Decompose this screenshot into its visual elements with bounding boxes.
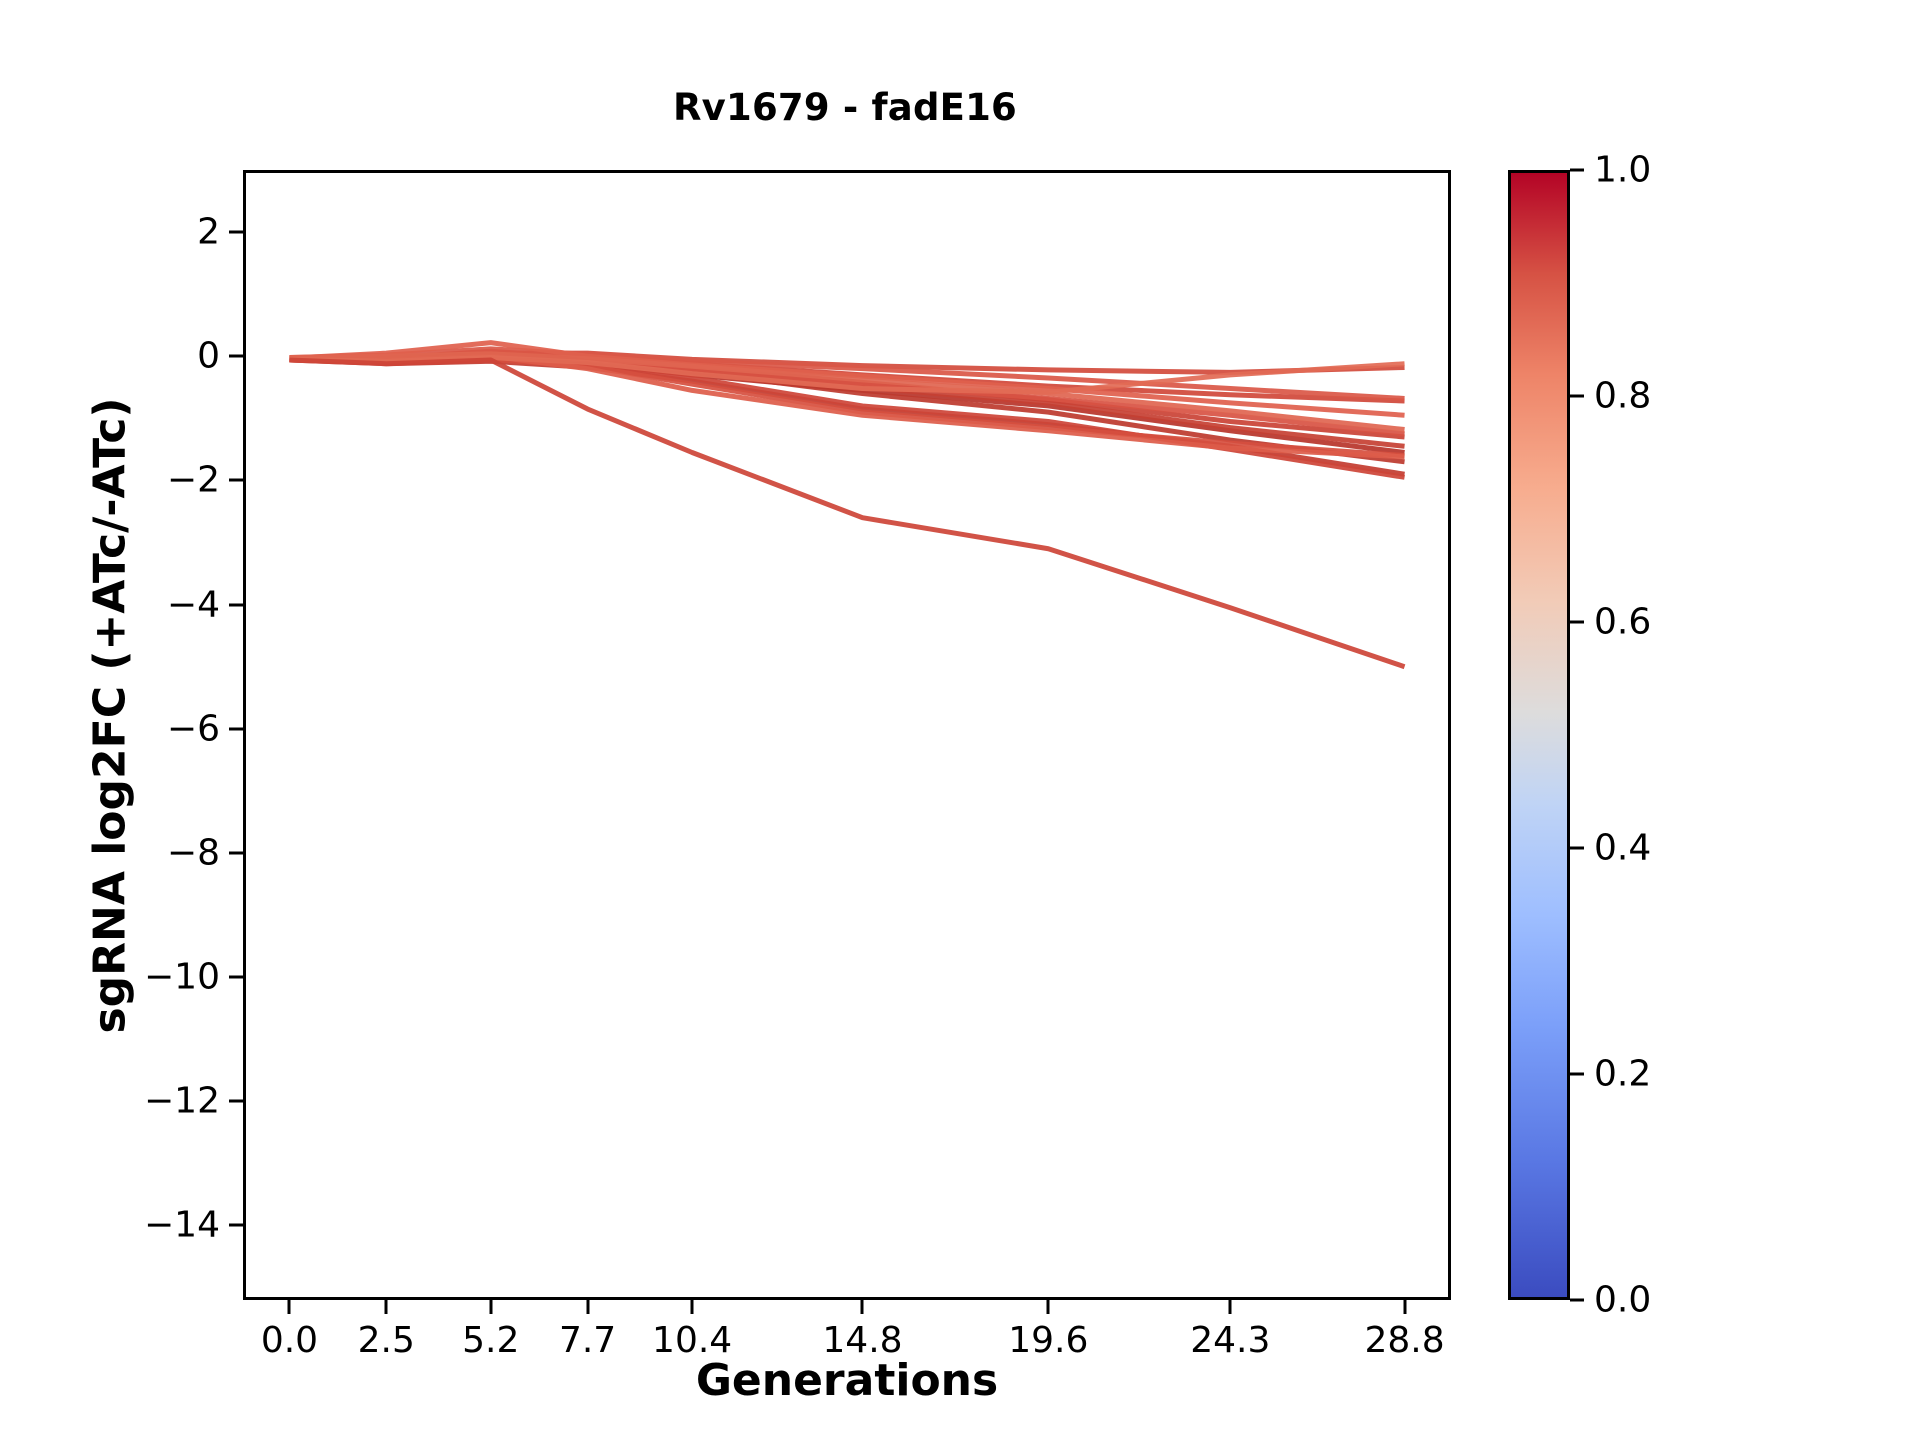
y-axis-tick-label: −8 xyxy=(167,832,220,873)
colorbar-tick-mark xyxy=(1570,847,1584,850)
y-axis-tick-label: −10 xyxy=(144,957,220,998)
y-axis-tick-label: −4 xyxy=(167,584,220,625)
x-axis-tick-mark xyxy=(586,1300,589,1314)
colorbar-tick-label: 0.6 xyxy=(1594,602,1651,643)
x-axis-tick-mark xyxy=(1047,1300,1050,1314)
colorbar-tick-mark xyxy=(1570,169,1584,172)
x-axis-tick-mark xyxy=(861,1300,864,1314)
x-axis-tick-mark xyxy=(288,1300,291,1314)
y-axis-tick-mark xyxy=(229,479,243,482)
y-axis-tick-mark xyxy=(229,976,243,979)
y-axis-tick-label: 2 xyxy=(197,212,220,253)
y-axis-tick-mark xyxy=(229,603,243,606)
y-axis-tick-mark xyxy=(229,727,243,730)
colorbar-tick-mark xyxy=(1570,1073,1584,1076)
line-series-group xyxy=(243,170,1451,1300)
colorbar-ticks: 0.00.20.40.60.81.0 xyxy=(1570,170,1690,1300)
x-axis-tick-mark xyxy=(1229,1300,1232,1314)
y-axis-tick-mark xyxy=(229,231,243,234)
colorbar-tick-mark xyxy=(1570,1299,1584,1302)
colorbar-tick-mark xyxy=(1570,621,1584,624)
colorbar-tick-label: 1.0 xyxy=(1594,150,1651,191)
y-axis-tick-label: −12 xyxy=(144,1081,220,1122)
colorbar-tick-label: 0.2 xyxy=(1594,1054,1651,1095)
colorbar-gradient xyxy=(1508,170,1570,1300)
x-axis-tick-mark xyxy=(385,1300,388,1314)
x-axis-tick-mark xyxy=(489,1300,492,1314)
y-axis-tick-label: −2 xyxy=(167,460,220,501)
x-axis-tick-mark xyxy=(691,1300,694,1314)
y-axis-tick-labels: 20−2−4−6−8−10−12−14 xyxy=(120,170,220,1300)
x-axis-label: Generations xyxy=(243,1355,1451,1406)
y-axis-tick-mark xyxy=(229,355,243,358)
y-axis-tick-label: −6 xyxy=(167,708,220,749)
y-axis-tick-mark xyxy=(229,1224,243,1227)
y-axis-tick-label: 0 xyxy=(197,336,220,377)
colorbar-tick-label: 0.0 xyxy=(1594,1280,1651,1321)
y-axis-tick-label: −14 xyxy=(144,1205,220,1246)
y-axis-tick-mark xyxy=(229,1100,243,1103)
figure-canvas: Rv1679 - fadE16 sgRNA log2FC (+ATc/-ATc)… xyxy=(0,0,1920,1440)
x-axis-tick-mark xyxy=(1403,1300,1406,1314)
colorbar-tick-label: 0.4 xyxy=(1594,828,1651,869)
y-axis-tick-mark xyxy=(229,851,243,854)
colorbar-tick-mark xyxy=(1570,395,1584,398)
page-title: Rv1679 - fadE16 xyxy=(240,86,1450,129)
plot-area xyxy=(243,170,1451,1300)
colorbar-tick-label: 0.8 xyxy=(1594,376,1651,417)
